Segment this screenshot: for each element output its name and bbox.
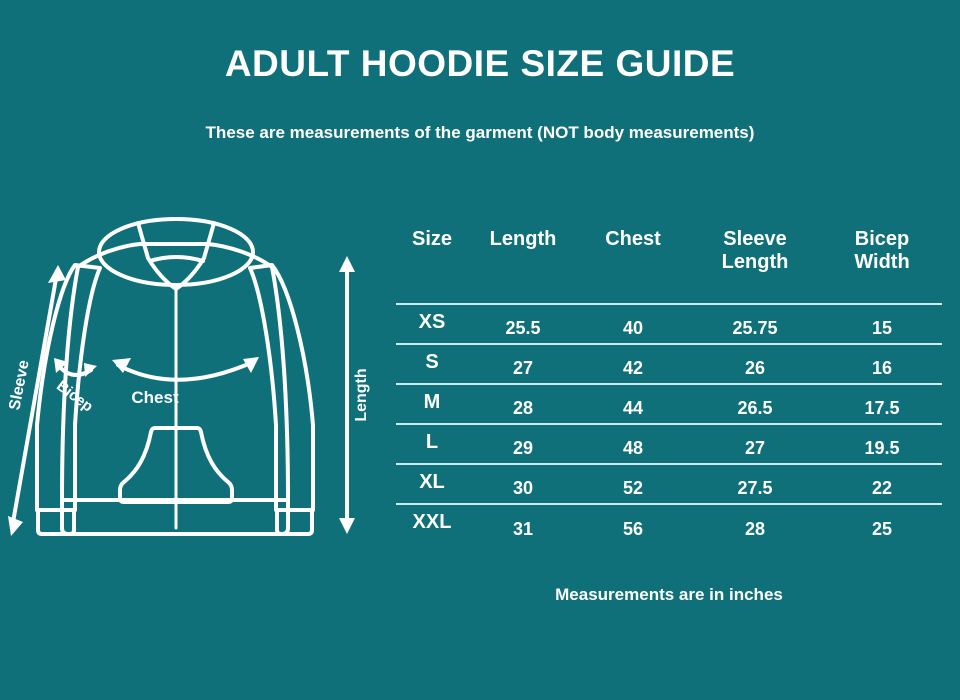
hoodie-hood — [99, 219, 253, 285]
cell-bicep-width: 25 — [822, 504, 942, 544]
cell-size: L — [396, 424, 468, 464]
cell-size: XXL — [396, 504, 468, 544]
table-row: S 27 42 26 16 — [396, 344, 942, 384]
cell-sleeve-length: 26.5 — [688, 384, 822, 424]
cell-sleeve-length: 27.5 — [688, 464, 822, 504]
cell-length: 29 — [468, 424, 578, 464]
table-row: XL 30 52 27.5 22 — [396, 464, 942, 504]
cell-chest: 48 — [578, 424, 688, 464]
cell-sleeve-length: 28 — [688, 504, 822, 544]
column-header-chest-line1: Chest — [578, 228, 688, 251]
hoodie-diagram: Sleeve Bicep Chest Length — [0, 210, 390, 570]
cell-size: XS — [396, 304, 468, 344]
cell-sleeve-length: 26 — [688, 344, 822, 384]
column-header-sleeve-length-line1: Sleeve — [688, 228, 822, 251]
cell-bicep-width: 22 — [822, 464, 942, 504]
cell-length: 30 — [468, 464, 578, 504]
cell-length: 28 — [468, 384, 578, 424]
column-header-sleeve-length: Sleeve Length — [688, 228, 822, 304]
column-header-length: Length — [468, 228, 578, 304]
footer-note: Measurements are in inches — [396, 585, 942, 605]
cell-sleeve-length: 27 — [688, 424, 822, 464]
cell-chest: 52 — [578, 464, 688, 504]
size-table-container: Size Length Chest Sleeve Length Bicep Wi… — [396, 228, 942, 544]
cell-chest: 40 — [578, 304, 688, 344]
table-row: L 29 48 27 19.5 — [396, 424, 942, 464]
cell-size: S — [396, 344, 468, 384]
cell-size: XL — [396, 464, 468, 504]
table-body: XS 25.5 40 25.75 15 S 27 42 26 16 M 28 4… — [396, 304, 942, 544]
page-title: ADULT HOODIE SIZE GUIDE — [0, 44, 960, 85]
label-sleeve: Sleeve — [6, 359, 32, 412]
table-header-row: Size Length Chest Sleeve Length Bicep Wi… — [396, 228, 942, 304]
cell-size: M — [396, 384, 468, 424]
table-row: XS 25.5 40 25.75 15 — [396, 304, 942, 344]
hoodie-collar-arc — [150, 257, 203, 261]
column-header-sleeve-length-line2: Length — [688, 251, 822, 274]
cell-sleeve-length: 25.75 — [688, 304, 822, 344]
label-length: Length — [353, 368, 370, 421]
size-table: Size Length Chest Sleeve Length Bicep Wi… — [396, 228, 942, 544]
column-header-bicep-width-line2: Width — [822, 251, 942, 274]
column-header-bicep-width: Bicep Width — [822, 228, 942, 304]
table-row: M 28 44 26.5 17.5 — [396, 384, 942, 424]
column-header-length-line1: Length — [468, 228, 578, 251]
page-subtitle: These are measurements of the garment (N… — [0, 123, 960, 143]
column-header-bicep-width-line1: Bicep — [822, 228, 942, 251]
table-header: Size Length Chest Sleeve Length Bicep Wi… — [396, 228, 942, 304]
cell-bicep-width: 16 — [822, 344, 942, 384]
column-header-chest: Chest — [578, 228, 688, 304]
cell-bicep-width: 15 — [822, 304, 942, 344]
cell-bicep-width: 17.5 — [822, 384, 942, 424]
cell-chest: 42 — [578, 344, 688, 384]
hoodie-left-cuff — [38, 510, 74, 534]
column-header-size-line1: Size — [396, 228, 468, 251]
hoodie-right-cuff — [277, 510, 312, 534]
cell-length: 25.5 — [468, 304, 578, 344]
cell-length: 27 — [468, 344, 578, 384]
label-chest: Chest — [131, 388, 179, 407]
column-header-size: Size — [396, 228, 468, 304]
cell-length: 31 — [468, 504, 578, 544]
chest-arrow — [112, 357, 259, 380]
table-row: XXL 31 56 28 25 — [396, 504, 942, 544]
cell-chest: 56 — [578, 504, 688, 544]
bicep-arrow — [54, 358, 97, 377]
cell-chest: 44 — [578, 384, 688, 424]
cell-bicep-width: 19.5 — [822, 424, 942, 464]
hoodie-right-sleeve — [250, 265, 313, 510]
